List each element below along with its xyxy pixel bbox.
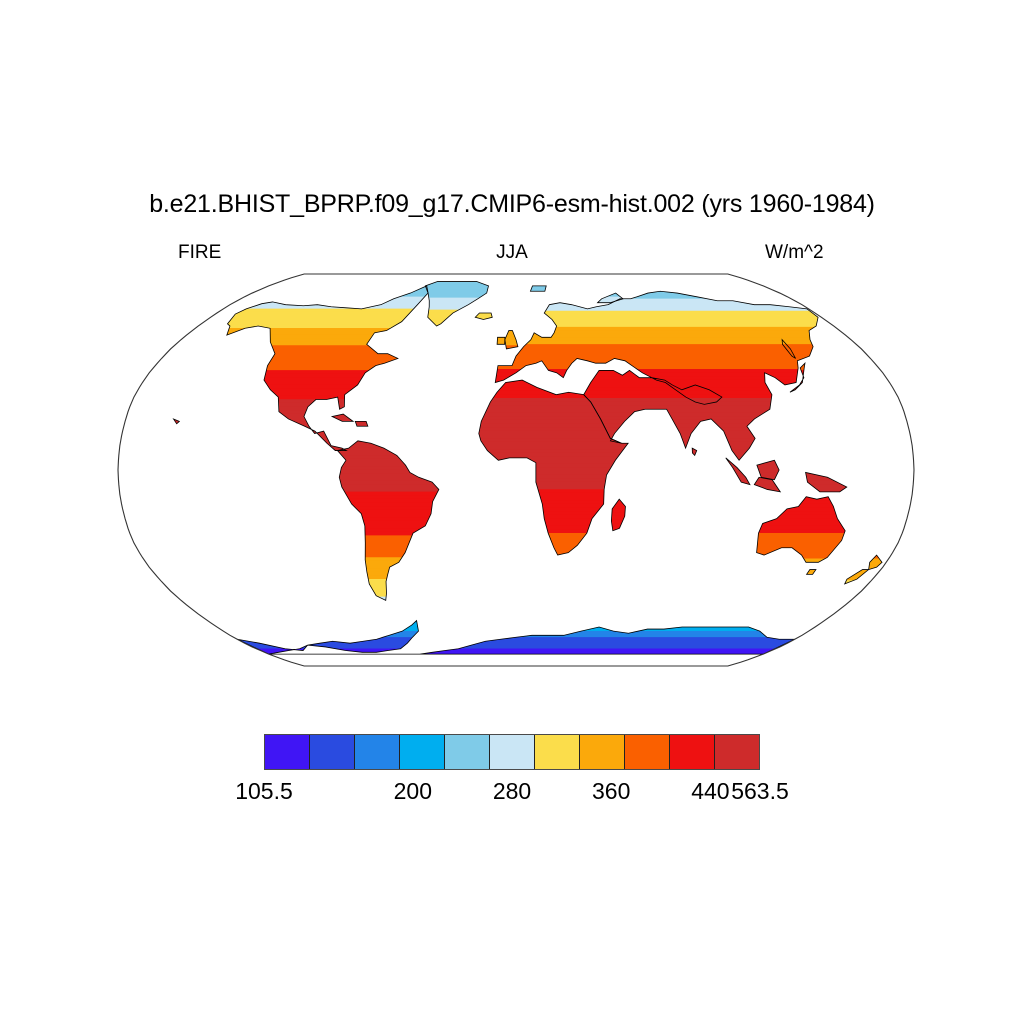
colorbar-swatch[interactable] — [490, 735, 535, 769]
colorbar-tick-label: 200 — [394, 778, 432, 805]
season-label: JJA — [0, 242, 1024, 264]
figure-canvas: b.e21.BHIST_BPRP.f09_g17.CMIP6-esm-hist.… — [0, 0, 1024, 1024]
robinson-map — [96, 262, 936, 702]
colorbar-swatch[interactable] — [580, 735, 625, 769]
colorbar-swatch[interactable] — [355, 735, 400, 769]
colorbar-swatch[interactable] — [310, 735, 355, 769]
colorbar-swatch[interactable] — [715, 735, 759, 769]
colorbar-tick-label: 440 — [691, 778, 729, 805]
colorbar-tick-label: 105.5 — [235, 778, 293, 805]
colorbar-swatch[interactable] — [265, 735, 310, 769]
colorbar-tick-label: 280 — [493, 778, 531, 805]
colorbar-swatch[interactable] — [400, 735, 445, 769]
colorbar-swatch[interactable] — [445, 735, 490, 769]
colorbar-tick-label: 563.5 — [731, 778, 789, 805]
colorbar[interactable] — [264, 734, 760, 770]
colorbar-tick-labels: 105.5200280360440563.5 — [0, 778, 1024, 808]
page-title: b.e21.BHIST_BPRP.f09_g17.CMIP6-esm-hist.… — [0, 190, 1024, 219]
colorbar-swatch[interactable] — [625, 735, 670, 769]
colorbar-tick-label: 360 — [592, 778, 630, 805]
colorbar-swatch[interactable] — [535, 735, 580, 769]
colorbar-swatch[interactable] — [670, 735, 715, 769]
map-panel — [96, 262, 936, 702]
units-label: W/m^2 — [765, 242, 824, 264]
